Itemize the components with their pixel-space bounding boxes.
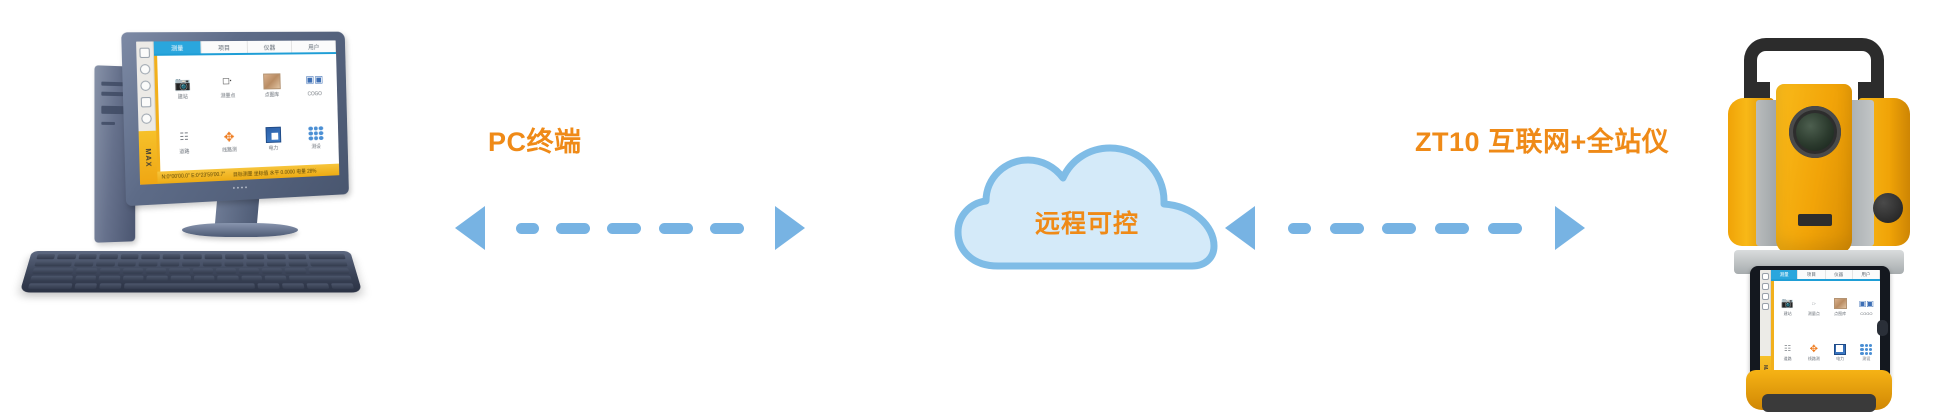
- pc-monitor-screen: MAX 测量 项目 仪器 用户 📷 建站: [136, 40, 339, 184]
- arrow-right-icon: [1555, 206, 1585, 250]
- diagram-canvas: MAX 测量 项目 仪器 用户 📷 建站: [0, 0, 1949, 418]
- power-icon: [1832, 342, 1848, 356]
- cross-icon: ✥: [218, 126, 240, 147]
- station-app-tabbar: 测量 项目 仪器 用户: [1771, 270, 1880, 281]
- pin-icon[interactable]: [141, 97, 152, 108]
- grid-item-label: 电力: [1836, 357, 1844, 361]
- grid-item[interactable]: ▣▣ COGO: [293, 58, 336, 111]
- grid-item[interactable]: 测设: [294, 110, 337, 163]
- grid-item[interactable]: 点图库: [250, 58, 294, 111]
- dashed-line: [1255, 223, 1555, 234]
- grid-item-label: 道路: [1784, 357, 1792, 361]
- grid-item[interactable]: □‧ 测量点: [1801, 284, 1826, 329]
- compass-icon[interactable]: [140, 81, 151, 91]
- photo-icon: [1832, 297, 1848, 311]
- status-coordinates: N:0°00'00.0" E:0°23'59'00.7": [161, 172, 225, 181]
- grid-item-label: COGO: [1860, 312, 1872, 316]
- grid-item-label: 点图库: [1834, 312, 1846, 316]
- target-icon[interactable]: [1762, 283, 1769, 290]
- arrow-right-icon: [775, 206, 805, 250]
- grid-item[interactable]: ✥ 线路测: [1801, 330, 1826, 375]
- pc-monitor: MAX 测量 项目 仪器 用户 📷 建站: [121, 32, 349, 206]
- power-icon: [262, 125, 284, 146]
- grid-item-label: 测设: [311, 145, 320, 150]
- grid-icon[interactable]: [139, 48, 150, 58]
- grid-item[interactable]: 📷 建站: [1775, 284, 1800, 329]
- grid-item-label: 建站: [178, 95, 188, 100]
- keyboard-icon: [20, 251, 363, 293]
- pc-terminal-label: PC终端: [488, 120, 582, 159]
- arrow-left-icon: [1225, 206, 1255, 250]
- grid-item-label: 建站: [1784, 312, 1792, 316]
- tab-user[interactable]: 用户: [292, 40, 336, 52]
- tab-project[interactable]: 项目: [1798, 270, 1825, 279]
- station-objective-lens: [1796, 113, 1834, 151]
- grid-item[interactable]: ▣▣ COGO: [1854, 284, 1879, 329]
- cross-icon: ✥: [1806, 342, 1822, 356]
- grid-item[interactable]: 📷 建站: [159, 59, 205, 114]
- grid-item[interactable]: ☷ 道路: [161, 114, 207, 169]
- tab-measure[interactable]: 测量: [154, 41, 202, 54]
- cloud-label: 远程可控: [952, 204, 1222, 240]
- grid-item-label: COGO: [308, 92, 322, 97]
- grid-item-label: 线路测: [1808, 357, 1820, 361]
- phone-side-button[interactable]: [1877, 320, 1888, 336]
- station-tangent-knob[interactable]: [1873, 193, 1903, 223]
- station-clamp: [1798, 214, 1832, 226]
- pc-workstation-illustration: MAX 测量 项目 仪器 用户 📷 建站: [20, 18, 380, 318]
- grid-item[interactable]: 点图库: [1828, 284, 1853, 329]
- grid-item-label: 电力: [269, 147, 279, 152]
- dots-icon: [305, 123, 326, 143]
- grid-item-label: 测量点: [1808, 312, 1820, 316]
- tab-measure[interactable]: 测量: [1771, 270, 1798, 279]
- cloud-shape: 远程可控: [952, 138, 1222, 273]
- station-icon: 📷: [1780, 297, 1796, 311]
- road-icon: ☷: [1780, 342, 1796, 356]
- grid-item-label: 点图库: [265, 93, 280, 98]
- compass-icon[interactable]: [1762, 293, 1769, 300]
- connector-pc-to-cloud: [455, 208, 805, 248]
- station-phone-screen: MAX 测量 项目 仪器 用户 📷 建站: [1760, 270, 1880, 386]
- settings-icon[interactable]: [141, 113, 152, 124]
- cogo-icon: ▣▣: [304, 71, 325, 91]
- grid-icon[interactable]: [1762, 273, 1769, 280]
- points-icon: □‧: [217, 72, 239, 92]
- cogo-icon: ▣▣: [1858, 297, 1874, 311]
- tab-instrument[interactable]: 仪器: [247, 41, 292, 53]
- total-station-illustration: MAX 测量 项目 仪器 用户 📷 建站: [1672, 8, 1940, 410]
- monitor-base: [182, 223, 298, 237]
- photo-icon: [261, 71, 283, 91]
- station-app-sidebar: MAX: [1760, 270, 1771, 386]
- station-app-main: 测量 项目 仪器 用户 📷 建站 □‧ 测量点: [1771, 270, 1880, 386]
- grid-item-label: 道路: [179, 150, 189, 155]
- total-station-label: ZT10 互联网+全站仪: [1415, 120, 1669, 159]
- connector-cloud-to-station: [1225, 208, 1585, 248]
- grid-item[interactable]: 电力: [1828, 330, 1853, 375]
- station-base-foot: [1762, 394, 1876, 412]
- pin-icon[interactable]: [1762, 303, 1769, 310]
- road-icon: ☷: [173, 127, 196, 148]
- app-brand-logo: MAX: [138, 131, 157, 185]
- grid-item[interactable]: 测设: [1854, 330, 1879, 375]
- tab-instrument[interactable]: 仪器: [1826, 270, 1853, 279]
- arrow-left-icon: [455, 206, 485, 250]
- station-app-icon-grid: 📷 建站 □‧ 测量点 点图库 ▣▣ COG: [1771, 281, 1880, 377]
- grid-item-label: 线路测: [222, 148, 237, 154]
- grid-item[interactable]: ✥ 线路测: [207, 113, 252, 168]
- points-icon: □‧: [1806, 297, 1822, 311]
- grid-item[interactable]: ☷ 道路: [1775, 330, 1800, 375]
- dashed-line: [485, 223, 775, 234]
- tab-user[interactable]: 用户: [1853, 270, 1880, 279]
- tab-project[interactable]: 项目: [201, 41, 247, 53]
- pc-app-icon-grid: 📷 建站 □‧ 测量点 点图库 ▣▣ COG: [154, 54, 339, 172]
- grid-item[interactable]: 电力: [251, 111, 295, 165]
- dots-icon: [1858, 342, 1874, 356]
- status-measurements: 目标测量 坐标值 水平 0.0000 电量 28%: [233, 167, 317, 178]
- station-icon: 📷: [171, 73, 194, 94]
- grid-item-label: 测量点: [221, 94, 236, 99]
- pc-app-main: 测量 项目 仪器 用户 📷 建站 □‧ 测量点: [154, 40, 340, 184]
- target-icon[interactable]: [140, 64, 151, 74]
- grid-item-label: 测设: [1862, 357, 1870, 361]
- grid-item[interactable]: □‧ 测量点: [205, 59, 250, 113]
